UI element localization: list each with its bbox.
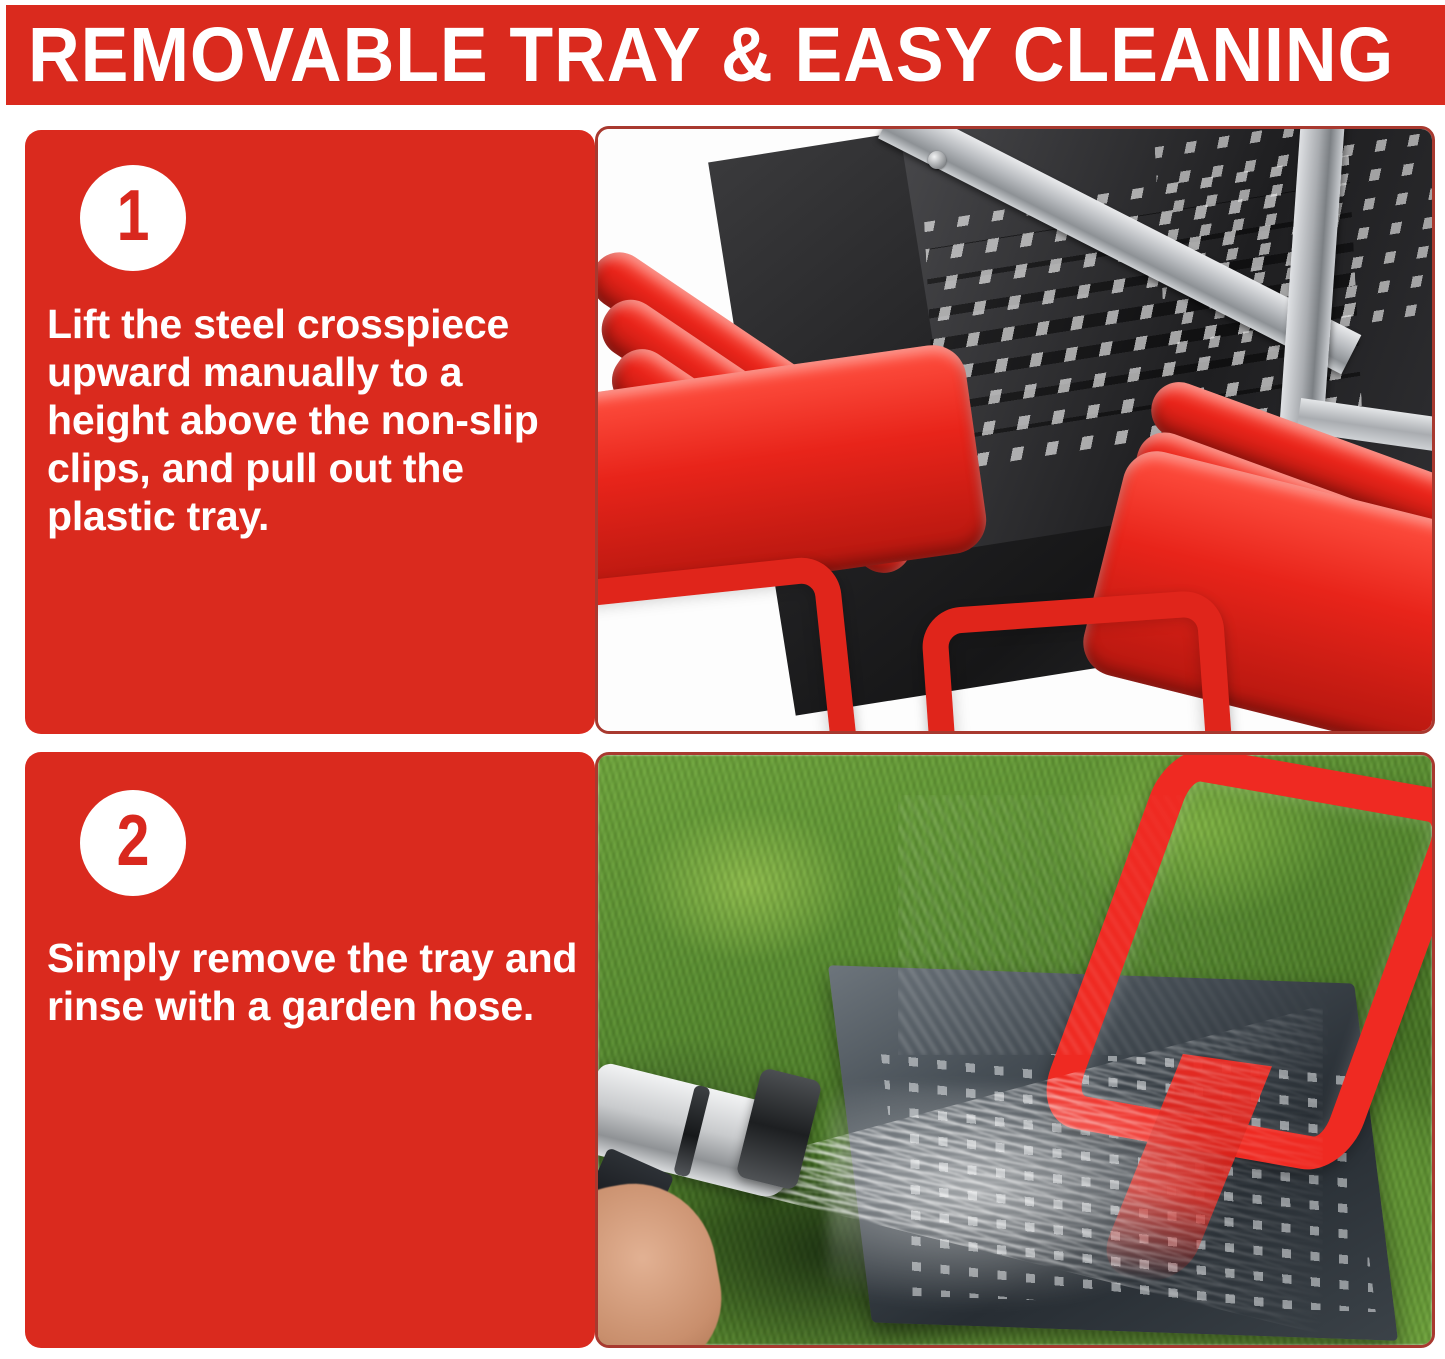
header-banner: REMOVABLE TRAY & EASY CLEANING	[6, 5, 1445, 105]
page-title: REMOVABLE TRAY & EASY CLEANING	[28, 17, 1394, 94]
screw-icon	[928, 151, 946, 169]
step-2-photo-inner	[598, 755, 1432, 1345]
step-2-number-badge: 2	[80, 790, 186, 896]
water-mist	[828, 1085, 1248, 1315]
step-1-number: 1	[117, 180, 150, 252]
step-2-text-card: 2 Simply remove the tray and rinse with …	[25, 752, 595, 1348]
step-1-text-card: 1 Lift the steel crosspiece upward manua…	[25, 130, 595, 734]
water-spray-upper	[898, 795, 1328, 1055]
step-2-photo	[595, 752, 1435, 1348]
step-2-number: 2	[117, 805, 150, 877]
step-1-instruction: Lift the steel crosspiece upward manuall…	[47, 300, 587, 540]
step-2-instruction: Simply remove the tray and rinse with a …	[47, 934, 587, 1030]
step-1-photo	[595, 126, 1435, 734]
step-1-number-badge: 1	[80, 165, 186, 271]
step-1-photo-inner	[598, 129, 1432, 731]
red-handle-right	[920, 589, 1238, 731]
red-handle-left	[598, 554, 861, 731]
